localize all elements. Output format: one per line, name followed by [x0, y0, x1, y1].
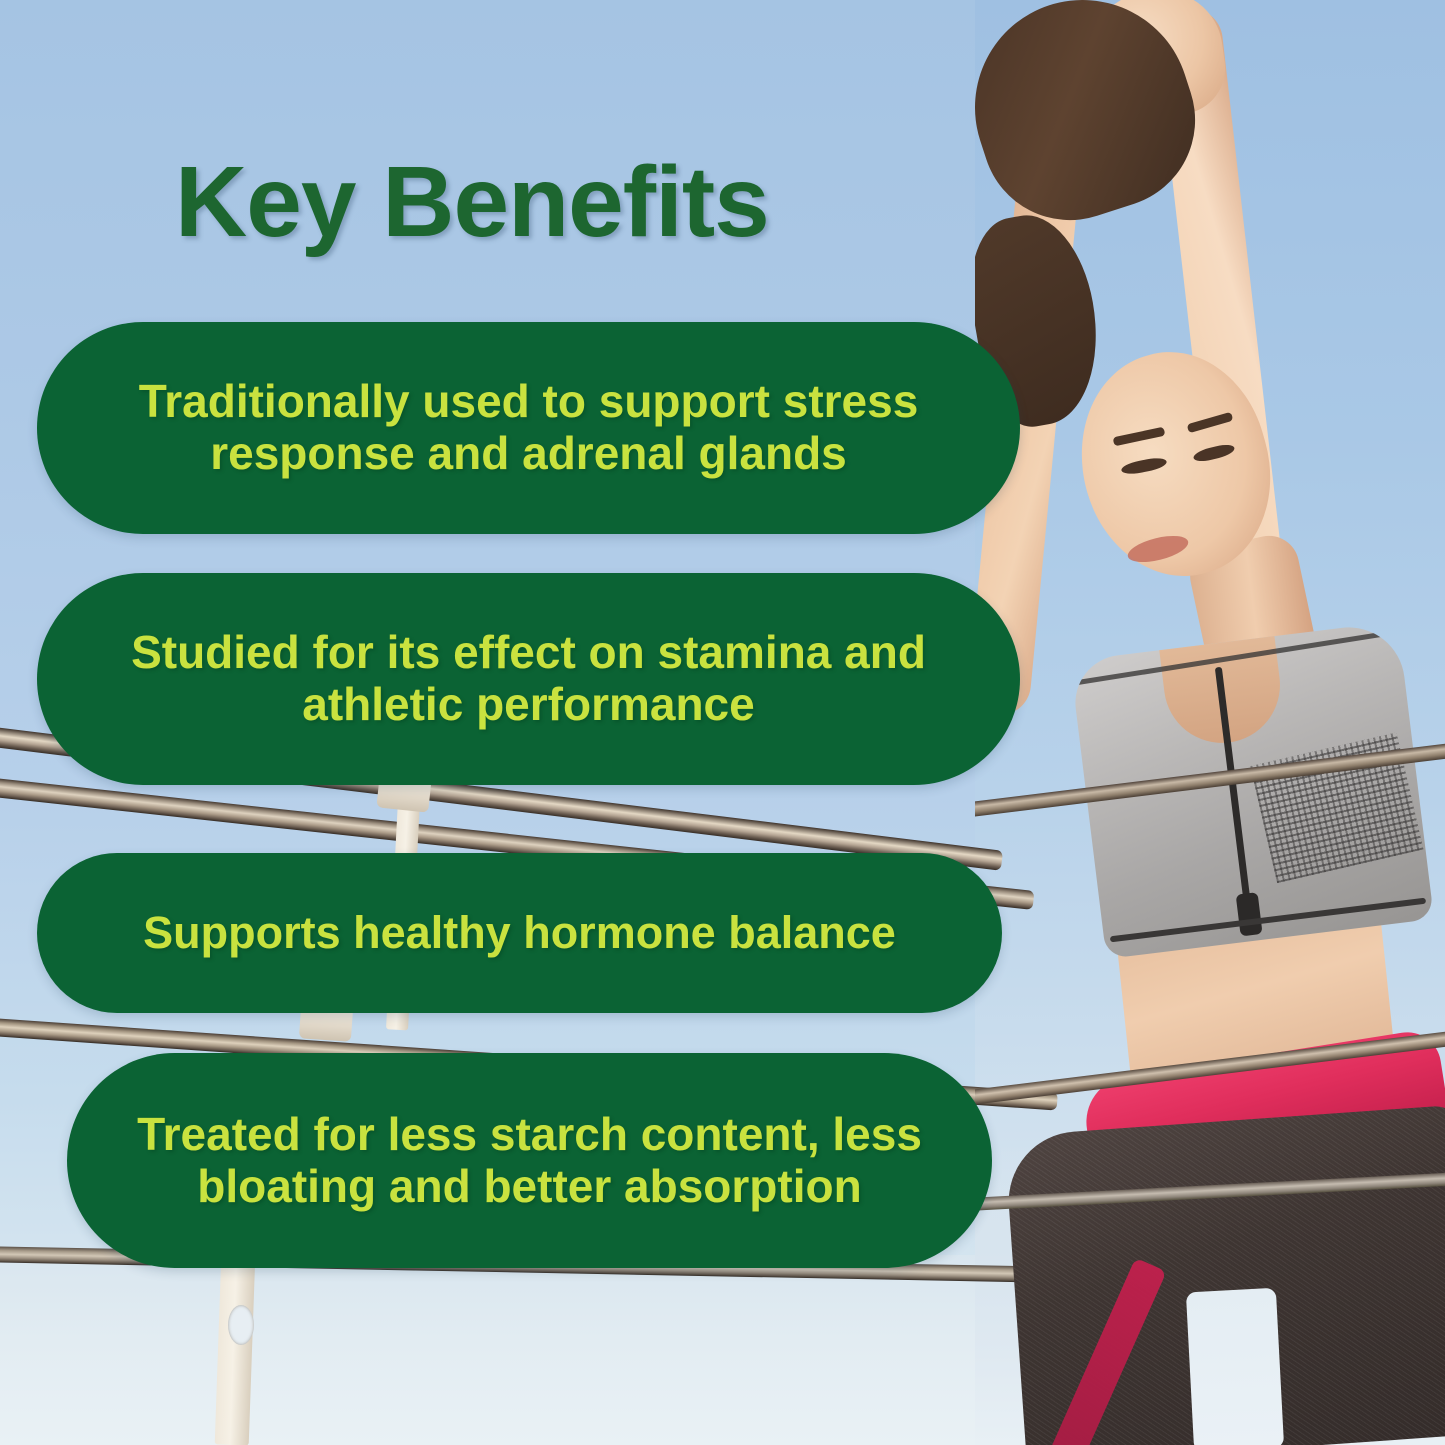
page-title: Key Benefits — [175, 152, 769, 252]
benefit-text-2: Studied for its effect on stamina and at… — [37, 627, 1020, 730]
benefit-pill-2: Studied for its effect on stamina and at… — [37, 573, 1020, 785]
benefit-text-3: Supports healthy hormone balance — [97, 908, 942, 958]
benefit-pill-1: Traditionally used to support stress res… — [37, 322, 1020, 534]
benefit-pill-3: Supports healthy hormone balance — [37, 853, 1002, 1013]
infographic-canvas: Key Benefits Traditionally used to suppo… — [0, 0, 1445, 1445]
benefit-text-1: Traditionally used to support stress res… — [37, 376, 1020, 479]
benefit-pill-4: Treated for less starch content, less bl… — [67, 1053, 992, 1268]
benefit-text-4: Treated for less starch content, less bl… — [67, 1109, 992, 1212]
content-overlay: Key Benefits Traditionally used to suppo… — [0, 0, 1445, 1445]
